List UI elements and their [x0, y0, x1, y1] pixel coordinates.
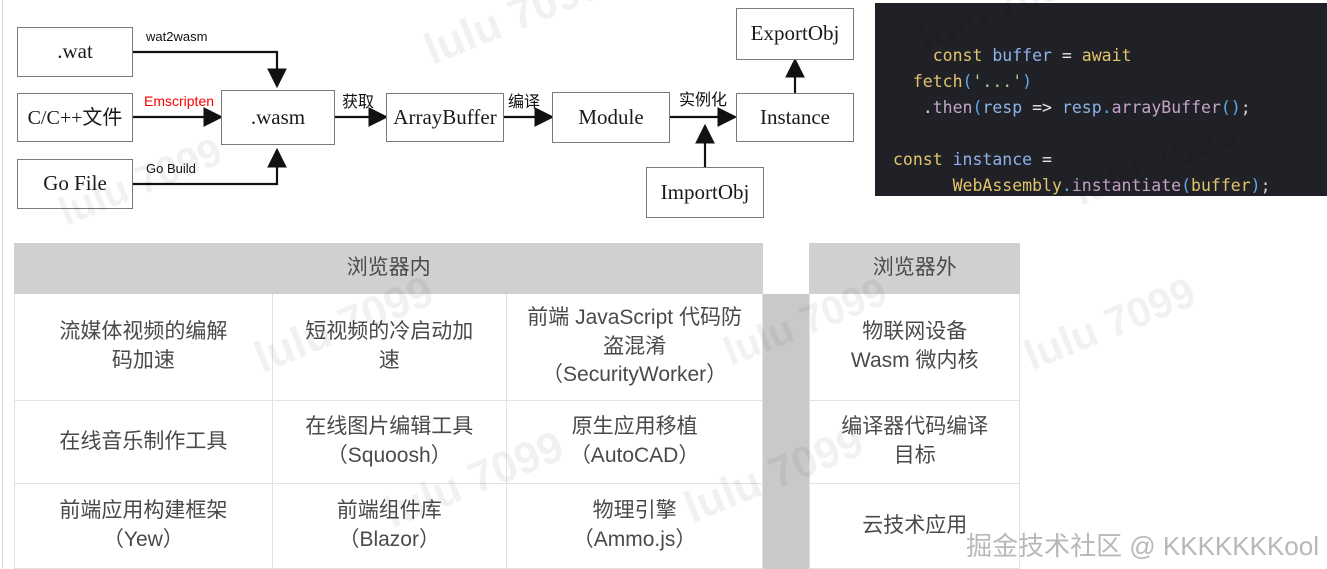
- table-cell: 物理引擎（Ammo.js）: [506, 484, 763, 569]
- wasm-usecase-table: 浏览器内浏览器外流媒体视频的编解码加速短视频的冷启动加速前端 JavaScrip…: [14, 243, 1020, 569]
- table-cell-line: 物理引擎: [515, 497, 755, 526]
- code-token: instance: [953, 150, 1032, 169]
- table-cell: 流媒体视频的编解码加速: [15, 294, 273, 401]
- node-module-label: Module: [578, 106, 643, 129]
- node-c-file: C/C++文件: [17, 93, 133, 142]
- code-body: const buffer = await fetch('...') .then(…: [893, 46, 1271, 195]
- credit-watermark: 掘金技术社区 @ KKKKKKKool: [966, 526, 1319, 563]
- code-token: await: [1082, 46, 1132, 65]
- table-cell: 物联网设备Wasm 微内核: [810, 294, 1020, 401]
- table-cell: 在线图片编辑工具（Squoosh）: [272, 401, 506, 484]
- code-token: [982, 46, 992, 65]
- code-token: '...': [972, 72, 1022, 91]
- code-token: (: [963, 72, 973, 91]
- code-token: const: [893, 150, 943, 169]
- code-token: buffer: [992, 46, 1052, 65]
- code-token: const: [933, 46, 983, 65]
- table-cell: 前端应用构建框架（Yew）: [15, 484, 273, 569]
- wasm-pipeline-diagram: .wat C/C++文件 Go File .wasm ArrayBuffer M…: [0, 0, 875, 228]
- table-cell-line: 流媒体视频的编解: [23, 318, 264, 347]
- edge-label-go-build: Go Build: [146, 161, 196, 176]
- code-token: .: [1102, 98, 1112, 117]
- code-token: (: [973, 98, 983, 117]
- code-token: .: [1062, 176, 1072, 195]
- code-snippet-panel: const buffer = await fetch('...') .then(…: [875, 3, 1327, 196]
- code-token: [1022, 98, 1032, 117]
- table-cell-line: 前端 JavaScript 代码防: [515, 304, 755, 333]
- node-go-file: Go File: [17, 159, 133, 209]
- code-token: [1052, 46, 1062, 65]
- code-token: arrayBuffer: [1112, 98, 1221, 117]
- code-token: [1032, 150, 1042, 169]
- node-wasm-label: .wasm: [251, 106, 305, 129]
- table-cell-line: （Yew）: [23, 526, 264, 555]
- node-importobj-label: ImportObj: [661, 181, 750, 204]
- edge-label-emscripten: Emscripten: [144, 93, 214, 109]
- code-token: =: [1042, 150, 1052, 169]
- table-cell-line: 速: [281, 347, 498, 376]
- table-cell: 前端组件库（Blazor）: [272, 484, 506, 569]
- code-token: fetch: [913, 72, 963, 91]
- table-header-in-browser: 浏览器内: [15, 244, 763, 294]
- table-cell: 在线音乐制作工具: [15, 401, 273, 484]
- table-cell-line: （SecurityWorker）: [515, 361, 755, 390]
- code-token: instantiate: [1072, 176, 1181, 195]
- table-row: 流媒体视频的编解码加速短视频的冷启动加速前端 JavaScript 代码防盗混淆…: [15, 294, 1020, 401]
- node-c-file-label: C/C++文件: [28, 107, 123, 129]
- code-token: [1052, 98, 1062, 117]
- code-token: ;: [1261, 176, 1271, 195]
- table-cell-line: 码加速: [23, 347, 264, 376]
- code-token: [893, 72, 913, 91]
- code-token: .: [923, 98, 933, 117]
- table-cell: 短视频的冷启动加速: [272, 294, 506, 401]
- table-cell-line: 目标: [818, 442, 1011, 471]
- watermark-tile: lulu 7099: [1018, 268, 1203, 380]
- table-body: 浏览器内浏览器外流媒体视频的编解码加速短视频的冷启动加速前端 JavaScrip…: [15, 244, 1020, 569]
- code-token: ): [1022, 72, 1032, 91]
- code-token: [943, 150, 953, 169]
- node-exportobj: ExportObj: [736, 8, 854, 60]
- node-wat: .wat: [17, 27, 133, 77]
- node-importobj: ImportObj: [646, 167, 764, 218]
- page-root: .wat C/C++文件 Go File .wasm ArrayBuffer M…: [0, 0, 1327, 569]
- table-row: 在线音乐制作工具在线图片编辑工具（Squoosh）原生应用移植（AutoCAD）…: [15, 401, 1020, 484]
- table-cell-line: 盗混淆: [515, 333, 755, 362]
- table-cell-line: （Blazor）: [281, 526, 498, 555]
- node-wat-label: .wat: [57, 40, 93, 63]
- edge-label-compile: 编译: [508, 88, 540, 112]
- table-cell: 原生应用移植（AutoCAD）: [506, 401, 763, 484]
- table-header-spacer: [763, 244, 810, 294]
- table-cell-line: 短视频的冷启动加: [281, 318, 498, 347]
- table-spacer-cell: [763, 484, 810, 569]
- node-instance-label: Instance: [760, 106, 830, 129]
- table-cell-line: 前端组件库: [281, 497, 498, 526]
- table-cell-line: （AutoCAD）: [515, 442, 755, 471]
- code-token: buffer: [1191, 176, 1251, 195]
- code-token: [893, 98, 923, 117]
- code-token: =>: [1032, 98, 1052, 117]
- table-header-row: 浏览器内浏览器外: [15, 244, 1020, 294]
- edge-label-fetch: 获取: [342, 88, 374, 112]
- code-token: WebAssembly: [953, 176, 1062, 195]
- node-exportobj-label: ExportObj: [751, 22, 840, 45]
- code-token: ;: [1241, 98, 1251, 117]
- table-cell-line: 编译器代码编译: [818, 413, 1011, 442]
- node-arraybuffer: ArrayBuffer: [386, 93, 504, 142]
- code-token: [893, 176, 953, 195]
- table-header-out-browser: 浏览器外: [810, 244, 1020, 294]
- code-token: (: [1181, 176, 1191, 195]
- code-token: ): [1251, 176, 1261, 195]
- edge-label-instantiate: 实例化: [679, 86, 727, 110]
- edge-label-wat2wasm: wat2wasm: [146, 29, 207, 44]
- code-token: then: [933, 98, 973, 117]
- table-cell-line: 前端应用构建框架: [23, 497, 264, 526]
- node-arraybuffer-label: ArrayBuffer: [393, 106, 496, 129]
- node-module: Module: [552, 92, 670, 143]
- table-cell-line: （Ammo.js）: [515, 526, 755, 555]
- code-token: (): [1221, 98, 1241, 117]
- table-cell: 前端 JavaScript 代码防盗混淆（SecurityWorker）: [506, 294, 763, 401]
- table-spacer-cell: [763, 294, 810, 401]
- code-token: resp: [982, 98, 1022, 117]
- table-cell-line: （Squoosh）: [281, 442, 498, 471]
- code-token: resp: [1062, 98, 1102, 117]
- table-cell-line: 物联网设备: [818, 318, 1011, 347]
- table-cell-line: Wasm 微内核: [818, 347, 1011, 376]
- code-token: [1072, 46, 1082, 65]
- table-cell-line: 在线音乐制作工具: [23, 428, 264, 457]
- node-wasm: .wasm: [221, 90, 335, 145]
- table-spacer-cell: [763, 401, 810, 484]
- table-row: 前端应用构建框架（Yew）前端组件库（Blazor）物理引擎（Ammo.js）云…: [15, 484, 1020, 569]
- table-cell-line: 在线图片编辑工具: [281, 413, 498, 442]
- code-token: =: [1062, 46, 1072, 65]
- table-cell: 编译器代码编译目标: [810, 401, 1020, 484]
- node-go-file-label: Go File: [43, 172, 107, 195]
- table-cell-line: 原生应用移植: [515, 413, 755, 442]
- node-instance: Instance: [736, 93, 854, 142]
